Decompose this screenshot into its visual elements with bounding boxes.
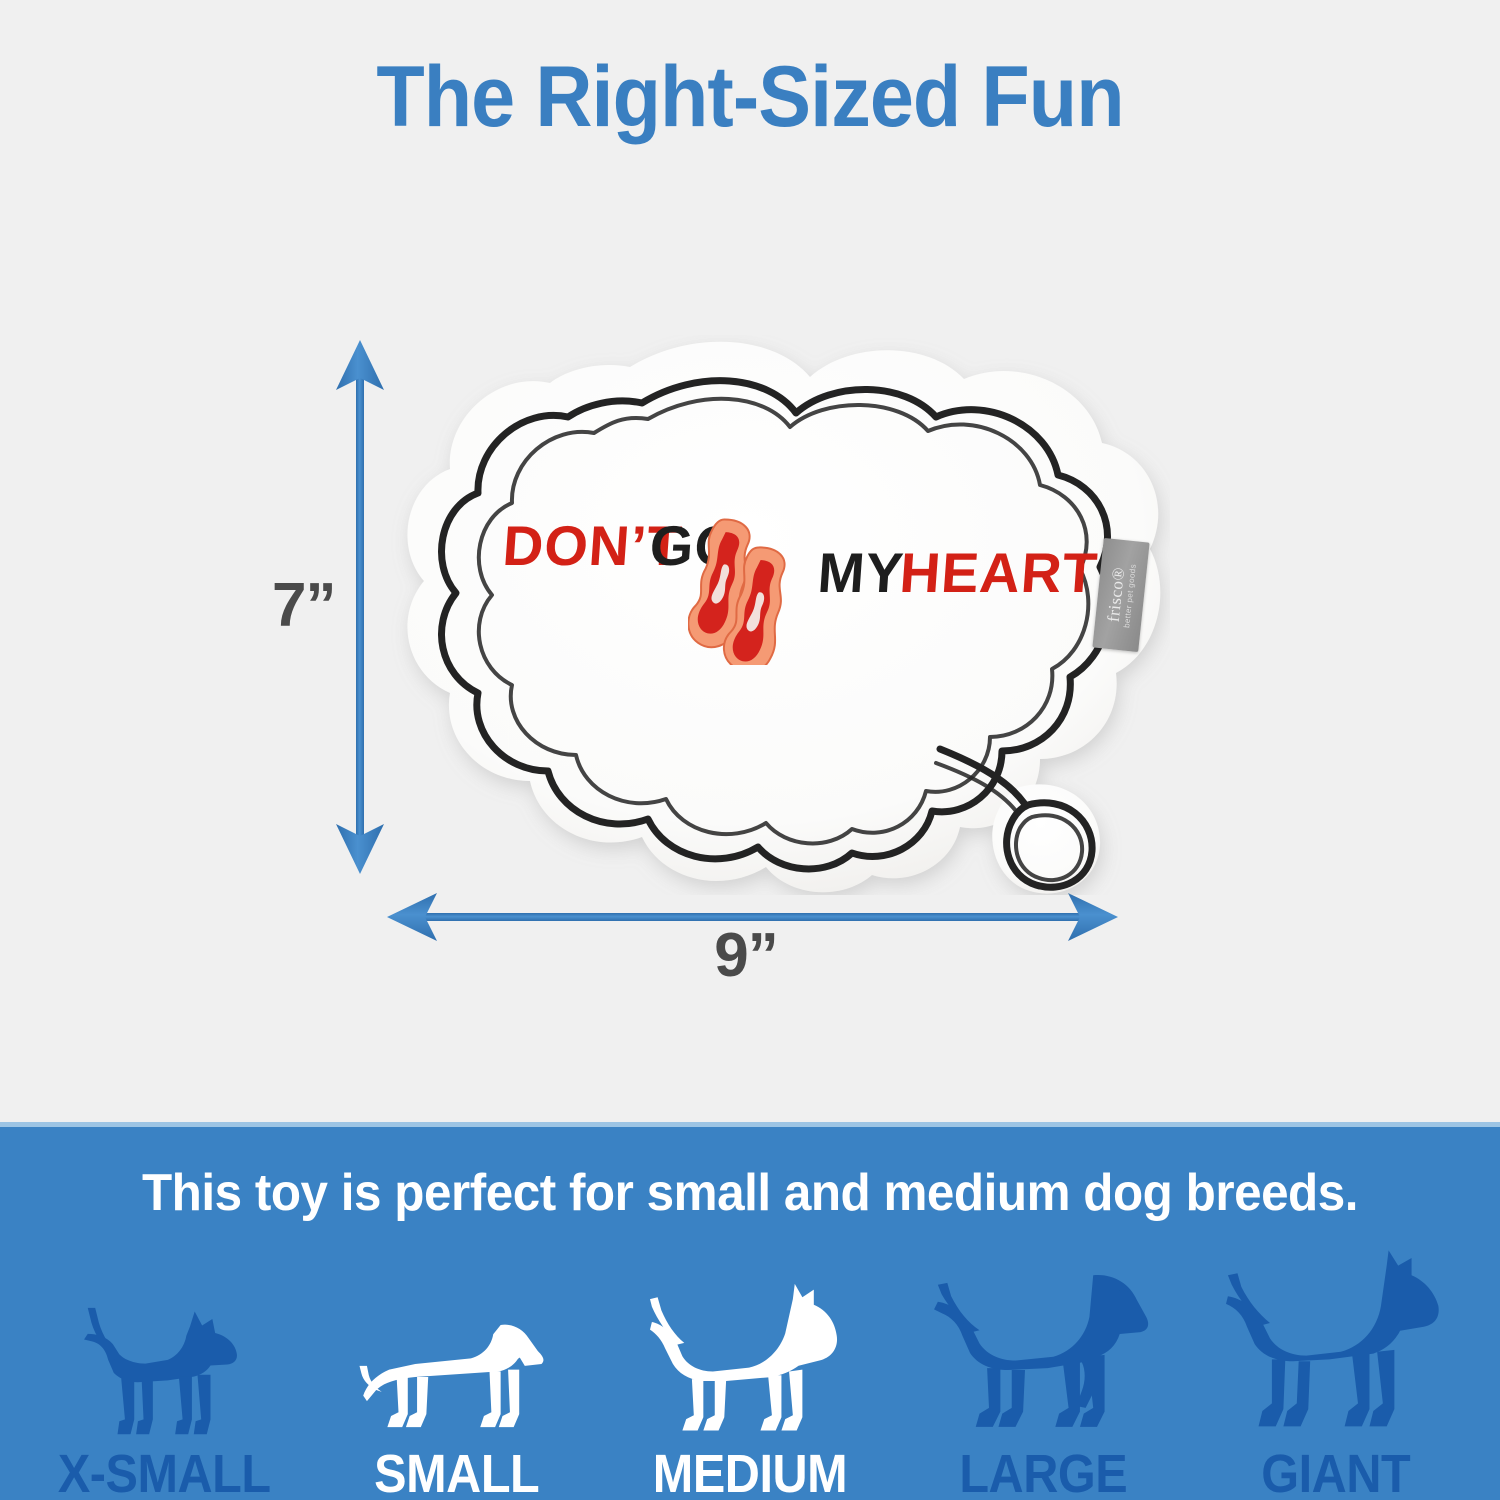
toy-embroidery-word-my: MY bbox=[816, 540, 907, 605]
size-option-giant[interactable]: GIANT bbox=[1189, 1235, 1482, 1500]
dog-size-scale: X-SMALL SMALL bbox=[0, 1235, 1500, 1500]
size-option-large[interactable]: LARGE bbox=[896, 1235, 1189, 1500]
size-label-x-small: X-SMALL bbox=[58, 1446, 271, 1500]
toy-embroidery-word-heart: HEART bbox=[898, 540, 1100, 605]
height-dimension-label: 7” bbox=[272, 570, 335, 641]
size-option-x-small[interactable]: X-SMALL bbox=[18, 1235, 311, 1500]
product-dimension-section: The Right-Sized Fun 7” bbox=[0, 0, 1500, 1122]
dog-bull-terrier-icon bbox=[604, 1280, 897, 1442]
dog-chihuahua-icon bbox=[18, 1302, 311, 1442]
dog-size-banner: This toy is perfect for small and medium… bbox=[0, 1122, 1500, 1500]
banner-headline: This toy is perfect for small and medium… bbox=[38, 1163, 1463, 1223]
size-label-medium: MEDIUM bbox=[653, 1446, 847, 1500]
size-option-small[interactable]: SMALL bbox=[311, 1235, 604, 1500]
dog-great-dane-icon bbox=[1189, 1250, 1482, 1442]
dog-dachshund-icon bbox=[311, 1312, 604, 1442]
size-label-giant: GIANT bbox=[1261, 1446, 1410, 1500]
size-label-small: SMALL bbox=[375, 1446, 540, 1500]
bacon-strips-icon bbox=[688, 515, 798, 665]
product-image-plush-toy: DON’T GO MY HEART frisco® bbox=[380, 335, 1170, 895]
dog-golden-retriever-icon bbox=[896, 1262, 1189, 1442]
page-title: The Right-Sized Fun bbox=[60, 48, 1440, 147]
size-label-large: LARGE bbox=[959, 1446, 1127, 1500]
width-dimension-label: 9” bbox=[0, 920, 1496, 991]
size-option-medium[interactable]: MEDIUM bbox=[604, 1235, 897, 1500]
